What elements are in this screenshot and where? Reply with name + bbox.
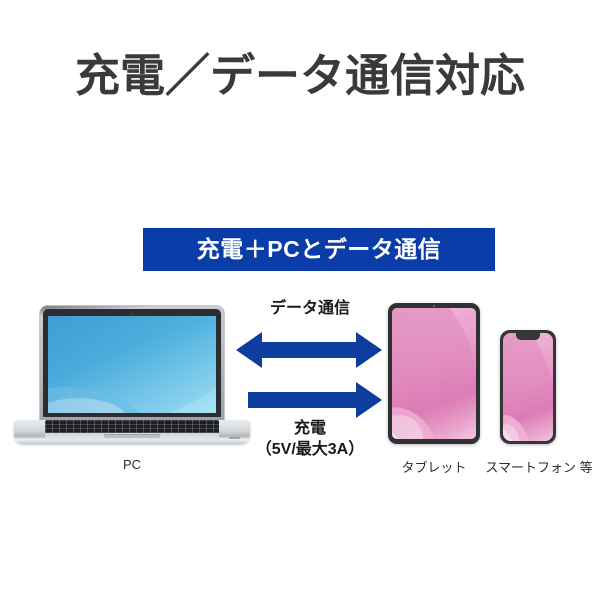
smartphone-notch	[516, 333, 540, 340]
laptop-screen	[48, 316, 216, 413]
tablet-icon	[388, 303, 480, 444]
charging-label: 充電	[232, 418, 388, 439]
laptop-lid	[40, 306, 224, 422]
laptop-keyboard	[45, 420, 219, 433]
tablet-screen	[392, 308, 476, 439]
smartphone-icon	[500, 330, 556, 444]
tablet-camera-icon	[433, 305, 435, 307]
smartphone-label: スマートフォン 等	[478, 457, 600, 476]
laptop-bezel	[43, 309, 221, 417]
charging-arrow-icon	[236, 382, 382, 418]
laptop-camera-icon	[131, 313, 133, 315]
laptop-label: PC	[14, 457, 250, 472]
connection-diagram: PC データ通信 充電 （5V/最大3A） タブレット スマートフォン 等	[0, 0, 600, 600]
laptop-wallpaper-swirl	[48, 316, 216, 413]
data-transfer-label: データ通信	[238, 294, 382, 318]
smartphone-screen	[503, 333, 553, 441]
laptop-icon	[14, 306, 250, 446]
charging-spec-label: （5V/最大3A）	[232, 439, 388, 460]
data-transfer-arrow-icon	[236, 330, 382, 370]
charging-label-group: 充電 （5V/最大3A）	[232, 418, 388, 460]
laptop-base	[14, 420, 250, 444]
tablet-label: タブレット	[378, 457, 490, 476]
laptop-trackpad	[104, 434, 160, 438]
